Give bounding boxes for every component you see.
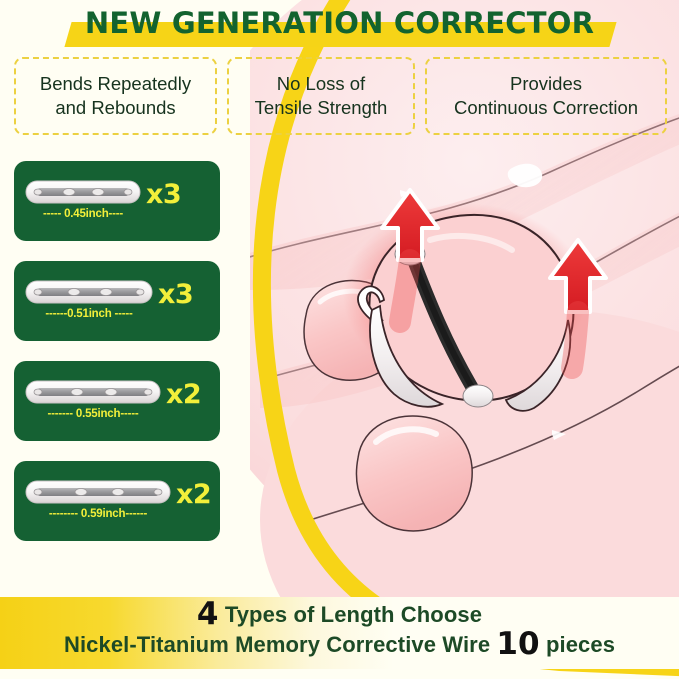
dimension-line: -------- 0.59inch------ (24, 506, 172, 523)
quantity-label: x3 (146, 179, 181, 210)
feature-line-2: Continuous Correction (454, 97, 638, 118)
feature-text: Provides Continuous Correction (454, 72, 638, 119)
dimension-line: ------- 0.55inch----- (24, 406, 162, 423)
footer-text: 4 Types of Length Choose Nickel-Titanium… (0, 600, 679, 660)
feature-line-2: Tensile Strength (255, 97, 388, 118)
size-card-list: ----- 0.45inch---- x3 (14, 161, 220, 561)
types-label: Types of Length Choose (225, 602, 482, 627)
dimension-label: ------- 0.55inch----- (24, 406, 162, 423)
size-card: ------0.51inch ----- x3 (14, 261, 220, 341)
types-count: 4 (197, 596, 219, 632)
feature-line-1: Bends Repeatedly (40, 73, 191, 94)
infographic-root: NEW GENERATION CORRECTOR Bends Repeatedl… (0, 0, 679, 679)
feature-text: No Loss of Tensile Strength (255, 72, 388, 119)
quantity-label: x3 (158, 279, 193, 310)
dimension-line: ------0.51inch ----- (24, 306, 154, 323)
page-title: NEW GENERATION CORRECTOR (0, 6, 679, 40)
size-card: ----- 0.45inch---- x3 (14, 161, 220, 241)
feature-box-continuous-correction: Provides Continuous Correction (425, 57, 667, 135)
corrector-clip-icon (24, 379, 162, 405)
clip-figure: ------- 0.55inch----- (14, 361, 162, 441)
quantity-label: x2 (176, 479, 211, 510)
footer-line-1: 4 Types of Length Choose (0, 600, 679, 629)
footer-line-2: Nickel-Titanium Memory Corrective Wire 1… (0, 629, 679, 660)
corrector-clip-icon (24, 479, 172, 505)
feature-line-1: Provides (510, 73, 582, 94)
quantity-label: x2 (166, 379, 201, 410)
size-card: ------- 0.55inch----- x2 (14, 361, 220, 441)
corrector-clip-icon (24, 179, 142, 205)
clip-figure: ------0.51inch ----- (14, 261, 154, 341)
feature-text: Bends Repeatedly and Rebounds (40, 72, 191, 119)
clip-figure: -------- 0.59inch------ (14, 461, 172, 541)
pieces-label: pieces (546, 632, 615, 657)
feature-line-2: and Rebounds (55, 97, 175, 118)
dimension-label: ----- 0.45inch---- (24, 206, 142, 223)
dimension-line: ----- 0.45inch---- (24, 206, 142, 223)
corrector-clip-icon (24, 279, 154, 305)
size-card: -------- 0.59inch------ x2 (14, 461, 220, 541)
dimension-label: -------- 0.59inch------ (24, 506, 172, 523)
dimension-label: ------0.51inch ----- (24, 306, 154, 323)
feature-list: Bends Repeatedly and Rebounds No Loss of… (14, 57, 669, 135)
clip-figure: ----- 0.45inch---- (14, 161, 142, 241)
feature-box-no-loss-tensile-strength: No Loss of Tensile Strength (227, 57, 415, 135)
pieces-count: 10 (496, 626, 539, 662)
feature-box-bends-repeatedly: Bends Repeatedly and Rebounds (14, 57, 217, 135)
product-label: Nickel-Titanium Memory Corrective Wire (64, 632, 490, 657)
feature-line-1: No Loss of (277, 73, 365, 94)
